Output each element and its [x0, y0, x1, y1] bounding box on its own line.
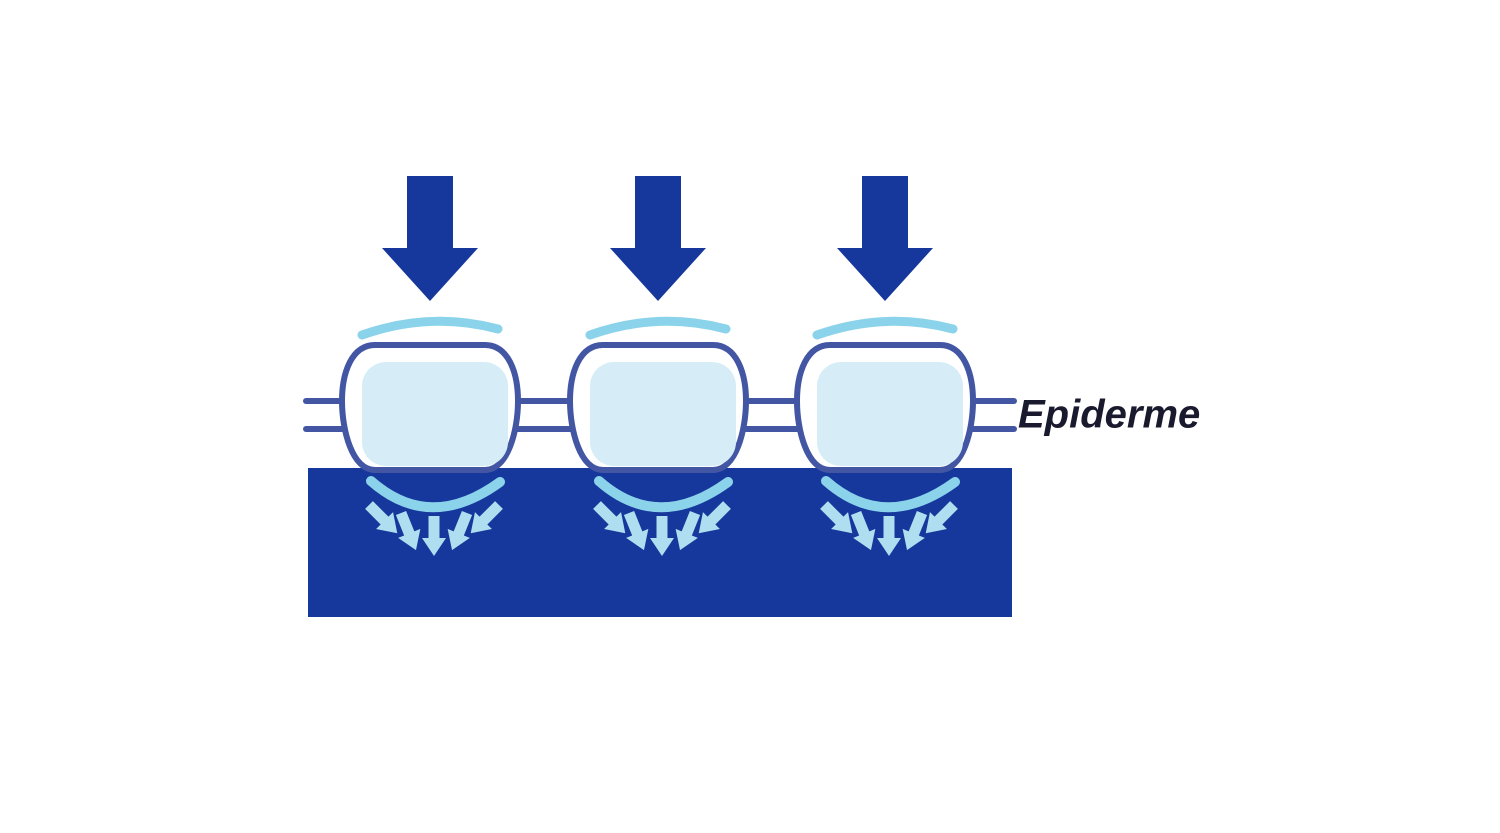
cell-cytoplasm-2 [590, 362, 736, 466]
edge-connector-left [306, 401, 342, 429]
compression-arc-1 [362, 321, 498, 335]
epiderme-pressure-diagram: Epiderme [0, 0, 1500, 833]
cell-cytoplasm-3 [817, 362, 963, 466]
compression-arc-2 [590, 321, 726, 335]
pressure-arrow-group [382, 176, 933, 301]
compression-arc-3 [817, 321, 953, 335]
epiderme-label: Epiderme [1018, 393, 1200, 437]
edge-connector-right [973, 401, 1014, 429]
cell-cytoplasm-1 [362, 362, 508, 466]
diagram-canvas: Epiderme [0, 0, 1500, 833]
cell-cytoplasm-group [362, 362, 963, 466]
pressure-arrow-1 [382, 176, 478, 301]
compression-arc-group [362, 321, 953, 335]
pressure-arrow-3 [837, 176, 933, 301]
pressure-arrow-2 [610, 176, 706, 301]
